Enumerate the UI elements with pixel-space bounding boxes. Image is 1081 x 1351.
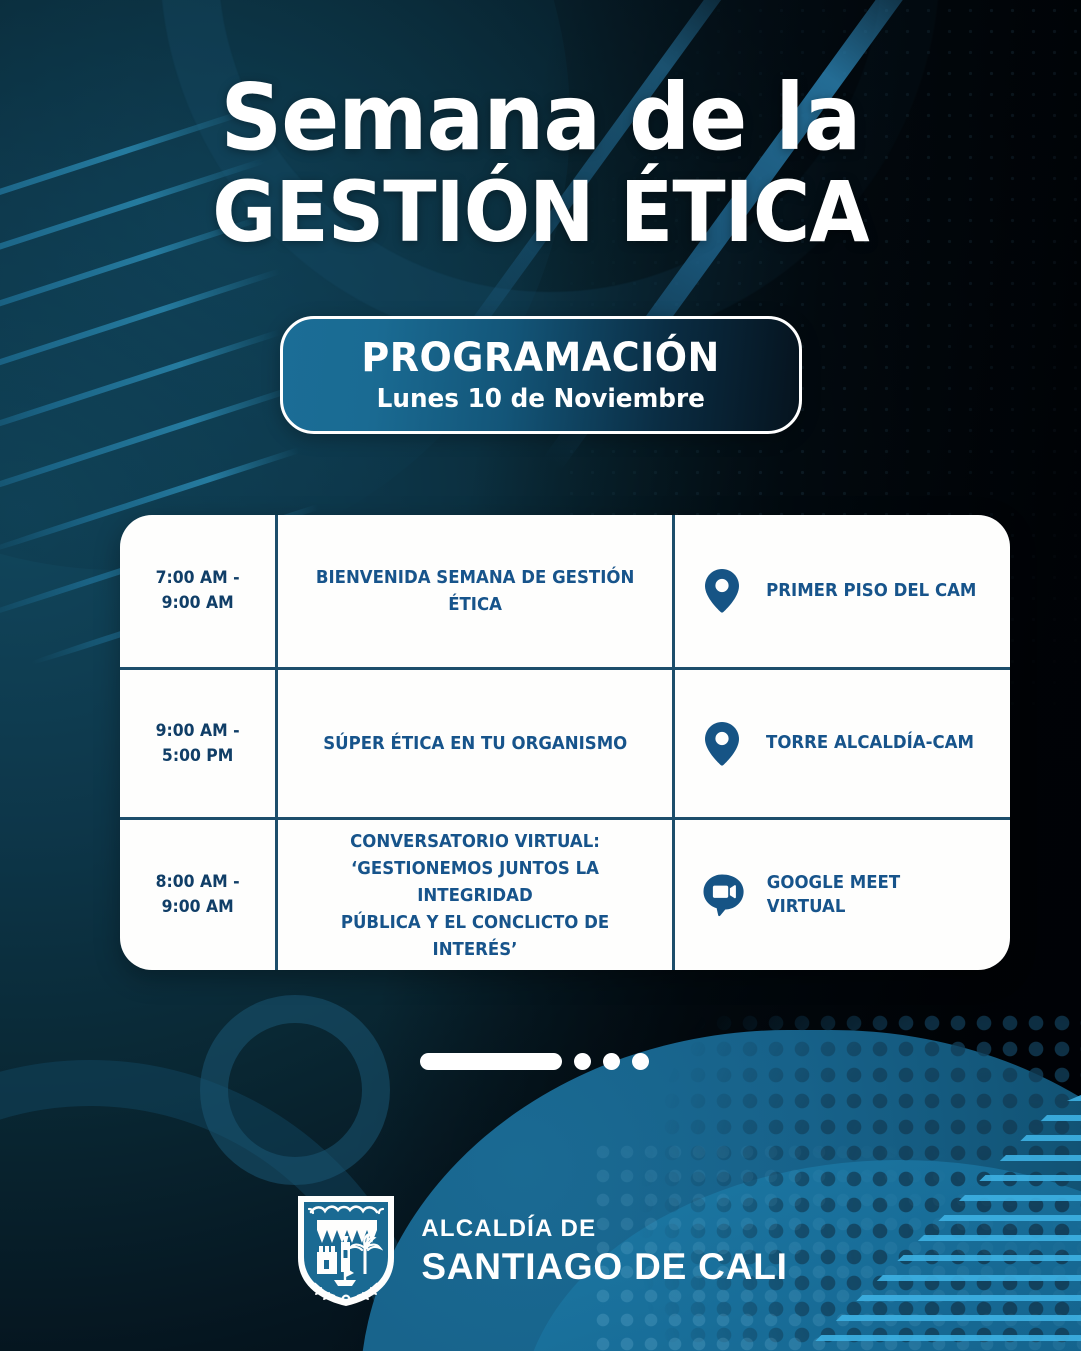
schedule-title-label: CONVERSATORIO VIRTUAL: ‘GESTIONEMOS JUNT…	[314, 828, 636, 963]
footer-org-name: ALCALDÍA DE SANTIAGO DE CALI	[421, 1217, 787, 1285]
cali-coat-of-arms-shield-icon	[293, 1192, 399, 1310]
schedule-time-label: 8:00 AM - 9:00 AM	[156, 870, 240, 919]
badge-subtitle: Lunes 10 de Noviembre	[376, 386, 704, 412]
footer-org-line-1: ALCALDÍA DE	[421, 1217, 787, 1241]
carousel-dot[interactable]	[574, 1053, 591, 1070]
schedule-place-label: PRIMER PISO DEL CAM	[766, 579, 976, 603]
carousel-dot[interactable]	[603, 1053, 620, 1070]
footer-branding: ALCALDÍA DE SANTIAGO DE CALI	[0, 1192, 1081, 1310]
table-row: 7:00 AM - 9:00 AM BIENVENIDA SEMANA DE G…	[120, 515, 1010, 670]
schedule-place-label: GOOGLE MEET VIRTUAL	[767, 871, 900, 920]
background-ring	[200, 995, 390, 1185]
carousel-indicator[interactable]	[420, 1053, 649, 1070]
footer-org-line-2: SANTIAGO DE CALI	[421, 1248, 787, 1285]
schedule-time-label: 9:00 AM - 5:00 PM	[156, 719, 240, 768]
schedule-place-cell: GOOGLE MEET VIRTUAL	[675, 820, 1010, 970]
badge-title: PROGRAMACIÓN	[361, 338, 719, 378]
schedule-title-label: BIENVENIDA SEMANA DE GESTIÓN ÉTICA	[316, 564, 634, 618]
schedule-time-cell: 8:00 AM - 9:00 AM	[120, 820, 278, 970]
page-title-line-1: Semana de la	[38, 72, 1043, 164]
schedule-card: 7:00 AM - 9:00 AM BIENVENIDA SEMANA DE G…	[120, 515, 1010, 970]
poster-header: Semana de la GESTIÓN ÉTICA	[0, 0, 1081, 256]
schedule-title-cell: CONVERSATORIO VIRTUAL: ‘GESTIONEMOS JUNT…	[278, 820, 675, 970]
schedule-title-cell: SÚPER ÉTICA EN TU ORGANISMO	[278, 670, 675, 817]
carousel-dot[interactable]	[632, 1053, 649, 1070]
table-row: 8:00 AM - 9:00 AM CONVERSATORIO VIRTUAL:…	[120, 820, 1010, 970]
programacion-badge: PROGRAMACIÓN Lunes 10 de Noviembre	[280, 316, 802, 434]
carousel-active-bar[interactable]	[420, 1053, 562, 1070]
location-pin-icon	[703, 568, 741, 614]
programacion-badge-wrap: PROGRAMACIÓN Lunes 10 de Noviembre	[0, 316, 1081, 434]
page-title-line-2: GESTIÓN ÉTICA	[38, 168, 1043, 256]
schedule-time-label: 7:00 AM - 9:00 AM	[156, 566, 240, 615]
schedule-place-label: TORRE ALCALDÍA-CAM	[766, 731, 974, 755]
poster-canvas: Semana de la GESTIÓN ÉTICA PROGRAMACIÓN …	[0, 0, 1081, 1351]
schedule-place-cell: PRIMER PISO DEL CAM	[675, 515, 1010, 667]
schedule-title-label: SÚPER ÉTICA EN TU ORGANISMO	[323, 730, 627, 757]
schedule-place-cell: TORRE ALCALDÍA-CAM	[675, 670, 1010, 817]
schedule-time-cell: 9:00 AM - 5:00 PM	[120, 670, 278, 817]
schedule-title-cell: BIENVENIDA SEMANA DE GESTIÓN ÉTICA	[278, 515, 675, 667]
location-pin-icon	[703, 721, 741, 767]
video-chat-icon	[703, 873, 745, 917]
schedule-time-cell: 7:00 AM - 9:00 AM	[120, 515, 278, 667]
table-row: 9:00 AM - 5:00 PM SÚPER ÉTICA EN TU ORGA…	[120, 670, 1010, 820]
